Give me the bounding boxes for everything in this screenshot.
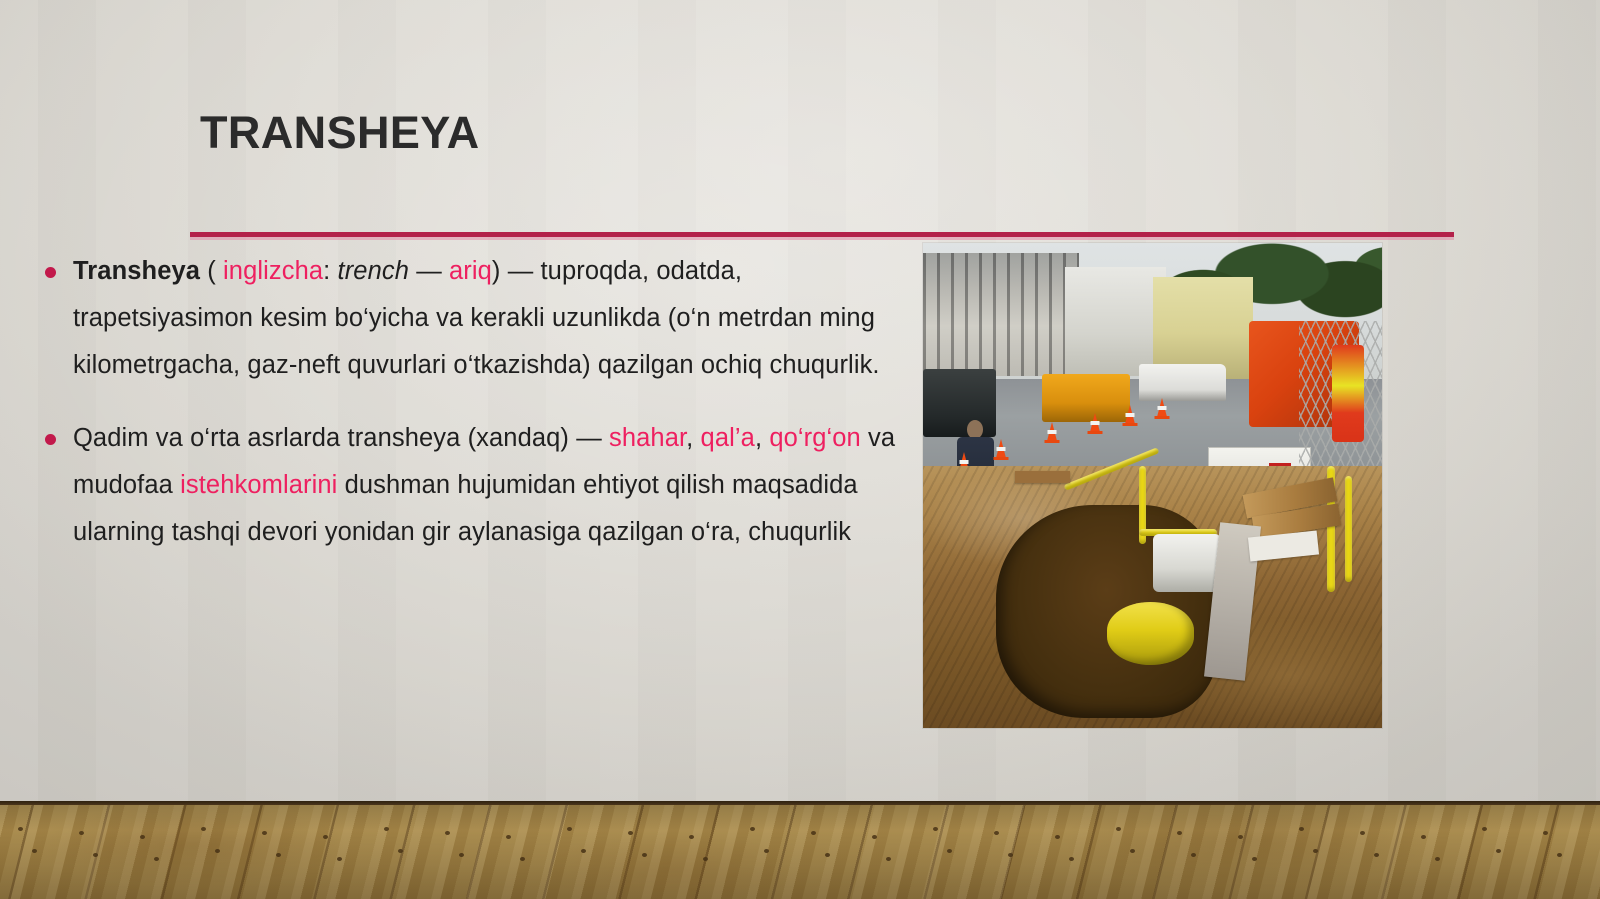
title-accent-rule (190, 232, 1454, 237)
photo-white-building (1065, 267, 1166, 379)
floor-shading (0, 801, 1600, 899)
bullet-history-text: Qadim va o‘rta asrlarda transheya (xanda… (73, 424, 895, 546)
photo-white-van (1139, 364, 1226, 400)
text-link[interactable]: inglizcha (223, 257, 323, 285)
photo-pipe-valve (1153, 534, 1222, 592)
text-link[interactable]: istehkomlarini (180, 471, 337, 499)
text-link[interactable]: shahar (609, 424, 686, 452)
text-link[interactable]: qal’a (701, 424, 755, 452)
bullet-dot-icon (45, 267, 56, 278)
photo-yellow-pipe (1345, 476, 1352, 583)
text-run: : (323, 257, 337, 285)
text-run: Transheya (73, 257, 200, 285)
text-run: ( (200, 257, 223, 285)
list-item: Qadim va o‘rta asrlarda transheya (xanda… (36, 415, 904, 556)
photo-yellow-gas-tank (1107, 602, 1194, 665)
photo-dark-machine (923, 369, 996, 437)
photo-yellow-machine (1042, 374, 1129, 423)
presentation-slide: TRANSHEYA Transheya ( inglizcha: trench … (0, 0, 1600, 899)
list-item: Transheya ( inglizcha: trench — ariq) — … (36, 248, 904, 389)
bullet-definition-text: Transheya ( inglizcha: trench — ariq) — … (73, 257, 880, 379)
text-run: Qadim va o‘rta asrlarda transheya (xanda… (73, 424, 609, 452)
photo-debris (1015, 471, 1070, 483)
photo-terrace-building (923, 253, 1079, 379)
page-title: TRANSHEYA (200, 108, 480, 158)
text-run: — (409, 257, 449, 285)
text-run: trench (338, 257, 409, 285)
wooden-floor-band (0, 801, 1600, 899)
trench-excavation-photo (923, 243, 1382, 728)
body-text-column: Transheya ( inglizcha: trench — ariq) — … (36, 248, 904, 556)
photo-hi-vis-worker (1332, 345, 1364, 442)
photo-content (923, 243, 1382, 728)
text-link[interactable]: qo‘rg‘on (769, 424, 861, 452)
text-run: , (755, 424, 769, 452)
bullet-dot-icon (45, 434, 56, 445)
text-run: , (686, 424, 700, 452)
text-link[interactable]: ariq (449, 257, 492, 285)
